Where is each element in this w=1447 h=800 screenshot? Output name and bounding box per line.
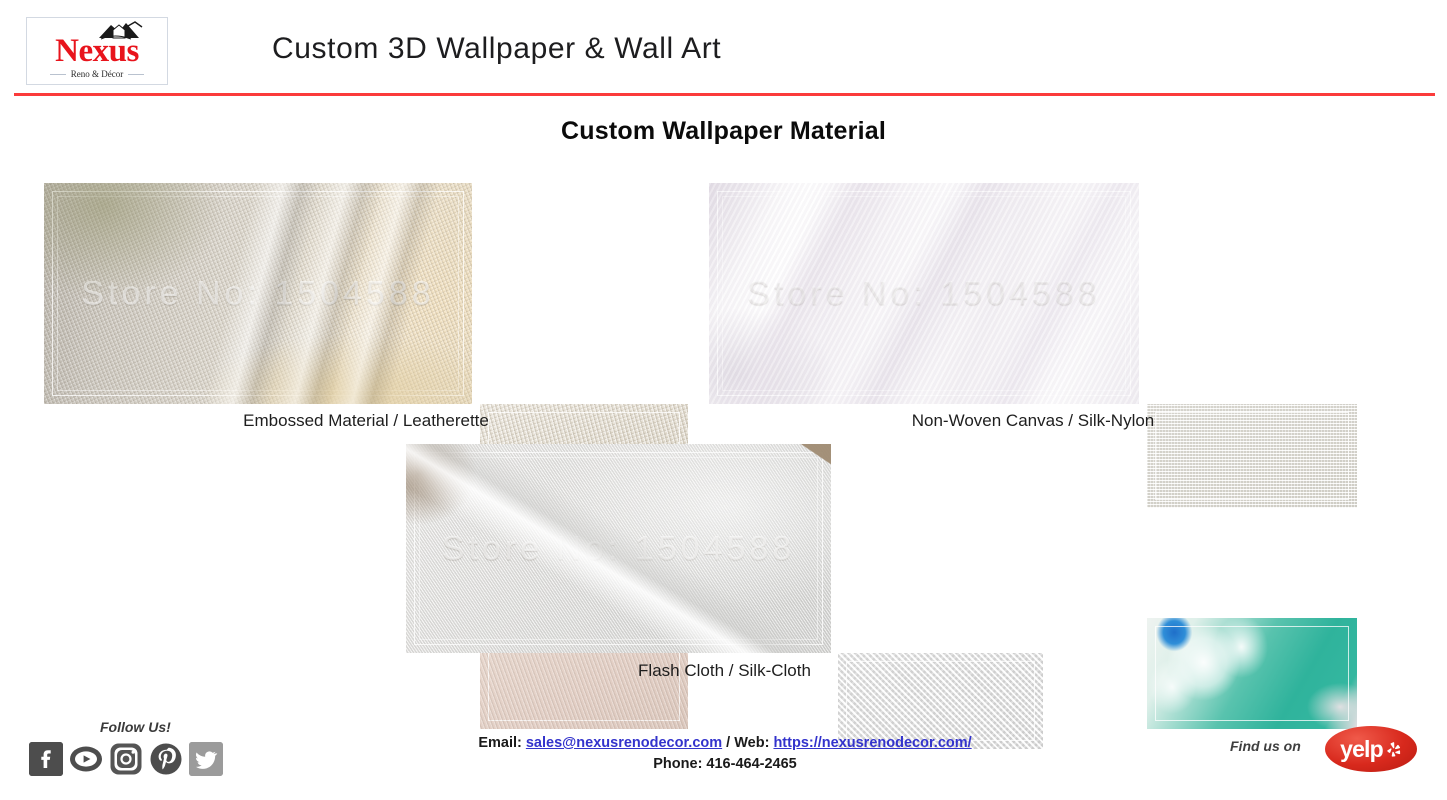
contact-info: Email: sales@nexusrenodecor.com / Web: h… (380, 733, 1070, 775)
yelp-badge[interactable]: yelp (1325, 726, 1417, 772)
brand-logo[interactable]: Nexus Reno & Décor (26, 17, 168, 85)
image-inner-frame (717, 191, 1131, 396)
pinterest-icon[interactable] (149, 742, 183, 776)
youtube-glyph (69, 742, 103, 776)
flash-cloth-sheet-image[interactable]: Store No: 1504588 (406, 444, 831, 653)
image-panels: Store No: 1504588 (709, 183, 1357, 405)
email-link[interactable]: sales@nexusrenodecor.com (526, 735, 722, 751)
store-watermark: Store No: 1504588 (709, 274, 1139, 313)
slide-page: Nexus Reno & Décor Custom 3D Wallpaper &… (0, 0, 1447, 800)
section-heading: Custom Wallpaper Material (0, 117, 1447, 146)
twitter-icon[interactable] (189, 742, 223, 776)
header-divider (14, 93, 1435, 96)
image-panels: Store No: 1504588 (44, 183, 688, 405)
phone-number: Phone: 416-464-2465 (380, 754, 1070, 775)
email-label: Email: (478, 735, 522, 751)
silk-nylon-fabric-folds-image[interactable]: Store No: 1504588 (709, 183, 1139, 404)
material-group-flash-cloth: Store No: 1504588 Flash Cloth / Silk-Clo… (406, 444, 1043, 689)
instagram-icon[interactable] (109, 742, 143, 776)
twitter-glyph (189, 742, 223, 776)
tagline-rule-left (50, 74, 66, 75)
embossed-wallpaper-roll-image[interactable]: Store No: 1504588 (44, 183, 472, 404)
store-watermark: Store No: 1504588 (406, 529, 831, 568)
facebook-icon[interactable] (29, 742, 63, 776)
page-header: Nexus Reno & Décor Custom 3D Wallpaper &… (0, 0, 1447, 92)
store-watermark: Store No: 1504588 (44, 274, 472, 313)
image-inner-frame-2 (419, 457, 818, 640)
tagline-rule-right (128, 74, 144, 75)
image-inner-frame-2 (722, 196, 1126, 391)
contact-separator: / (726, 735, 730, 751)
image-inner-frame (414, 452, 823, 645)
material-group-embossed: Store No: 1504588 Embossed Material / Le… (44, 183, 688, 431)
facebook-glyph (29, 742, 63, 776)
youtube-icon[interactable] (69, 742, 103, 776)
instagram-glyph (109, 742, 143, 776)
brand-tagline-row: Reno & Décor (27, 69, 167, 79)
yelp-wordmark: yelp (1340, 736, 1383, 763)
website-link[interactable]: https://nexusrenodecor.com/ (773, 735, 971, 751)
social-links (29, 742, 223, 776)
find-us-on-label: Find us on (1230, 738, 1301, 754)
material-group-non-woven: Store No: 1504588 Non-Woven Canvas / Sil… (709, 183, 1357, 431)
yelp-burst-icon (1385, 741, 1402, 758)
group-caption-flash-cloth: Flash Cloth / Silk-Cloth (406, 661, 1043, 681)
pinterest-glyph (149, 742, 183, 776)
follow-us-label: Follow Us! (100, 719, 171, 735)
image-inner-frame (52, 191, 464, 396)
image-inner-frame-2 (57, 196, 459, 391)
web-label: Web: (734, 735, 769, 751)
group-caption-embossed: Embossed Material / Leatherette (44, 411, 688, 431)
page-title: Custom 3D Wallpaper & Wall Art (272, 32, 721, 66)
brand-name: Nexus (27, 33, 167, 69)
brand-tagline: Reno & Décor (71, 69, 123, 79)
image-panels: Store No: 1504588 (406, 444, 1043, 654)
group-caption-non-woven: Non-Woven Canvas / Silk-Nylon (709, 411, 1357, 431)
